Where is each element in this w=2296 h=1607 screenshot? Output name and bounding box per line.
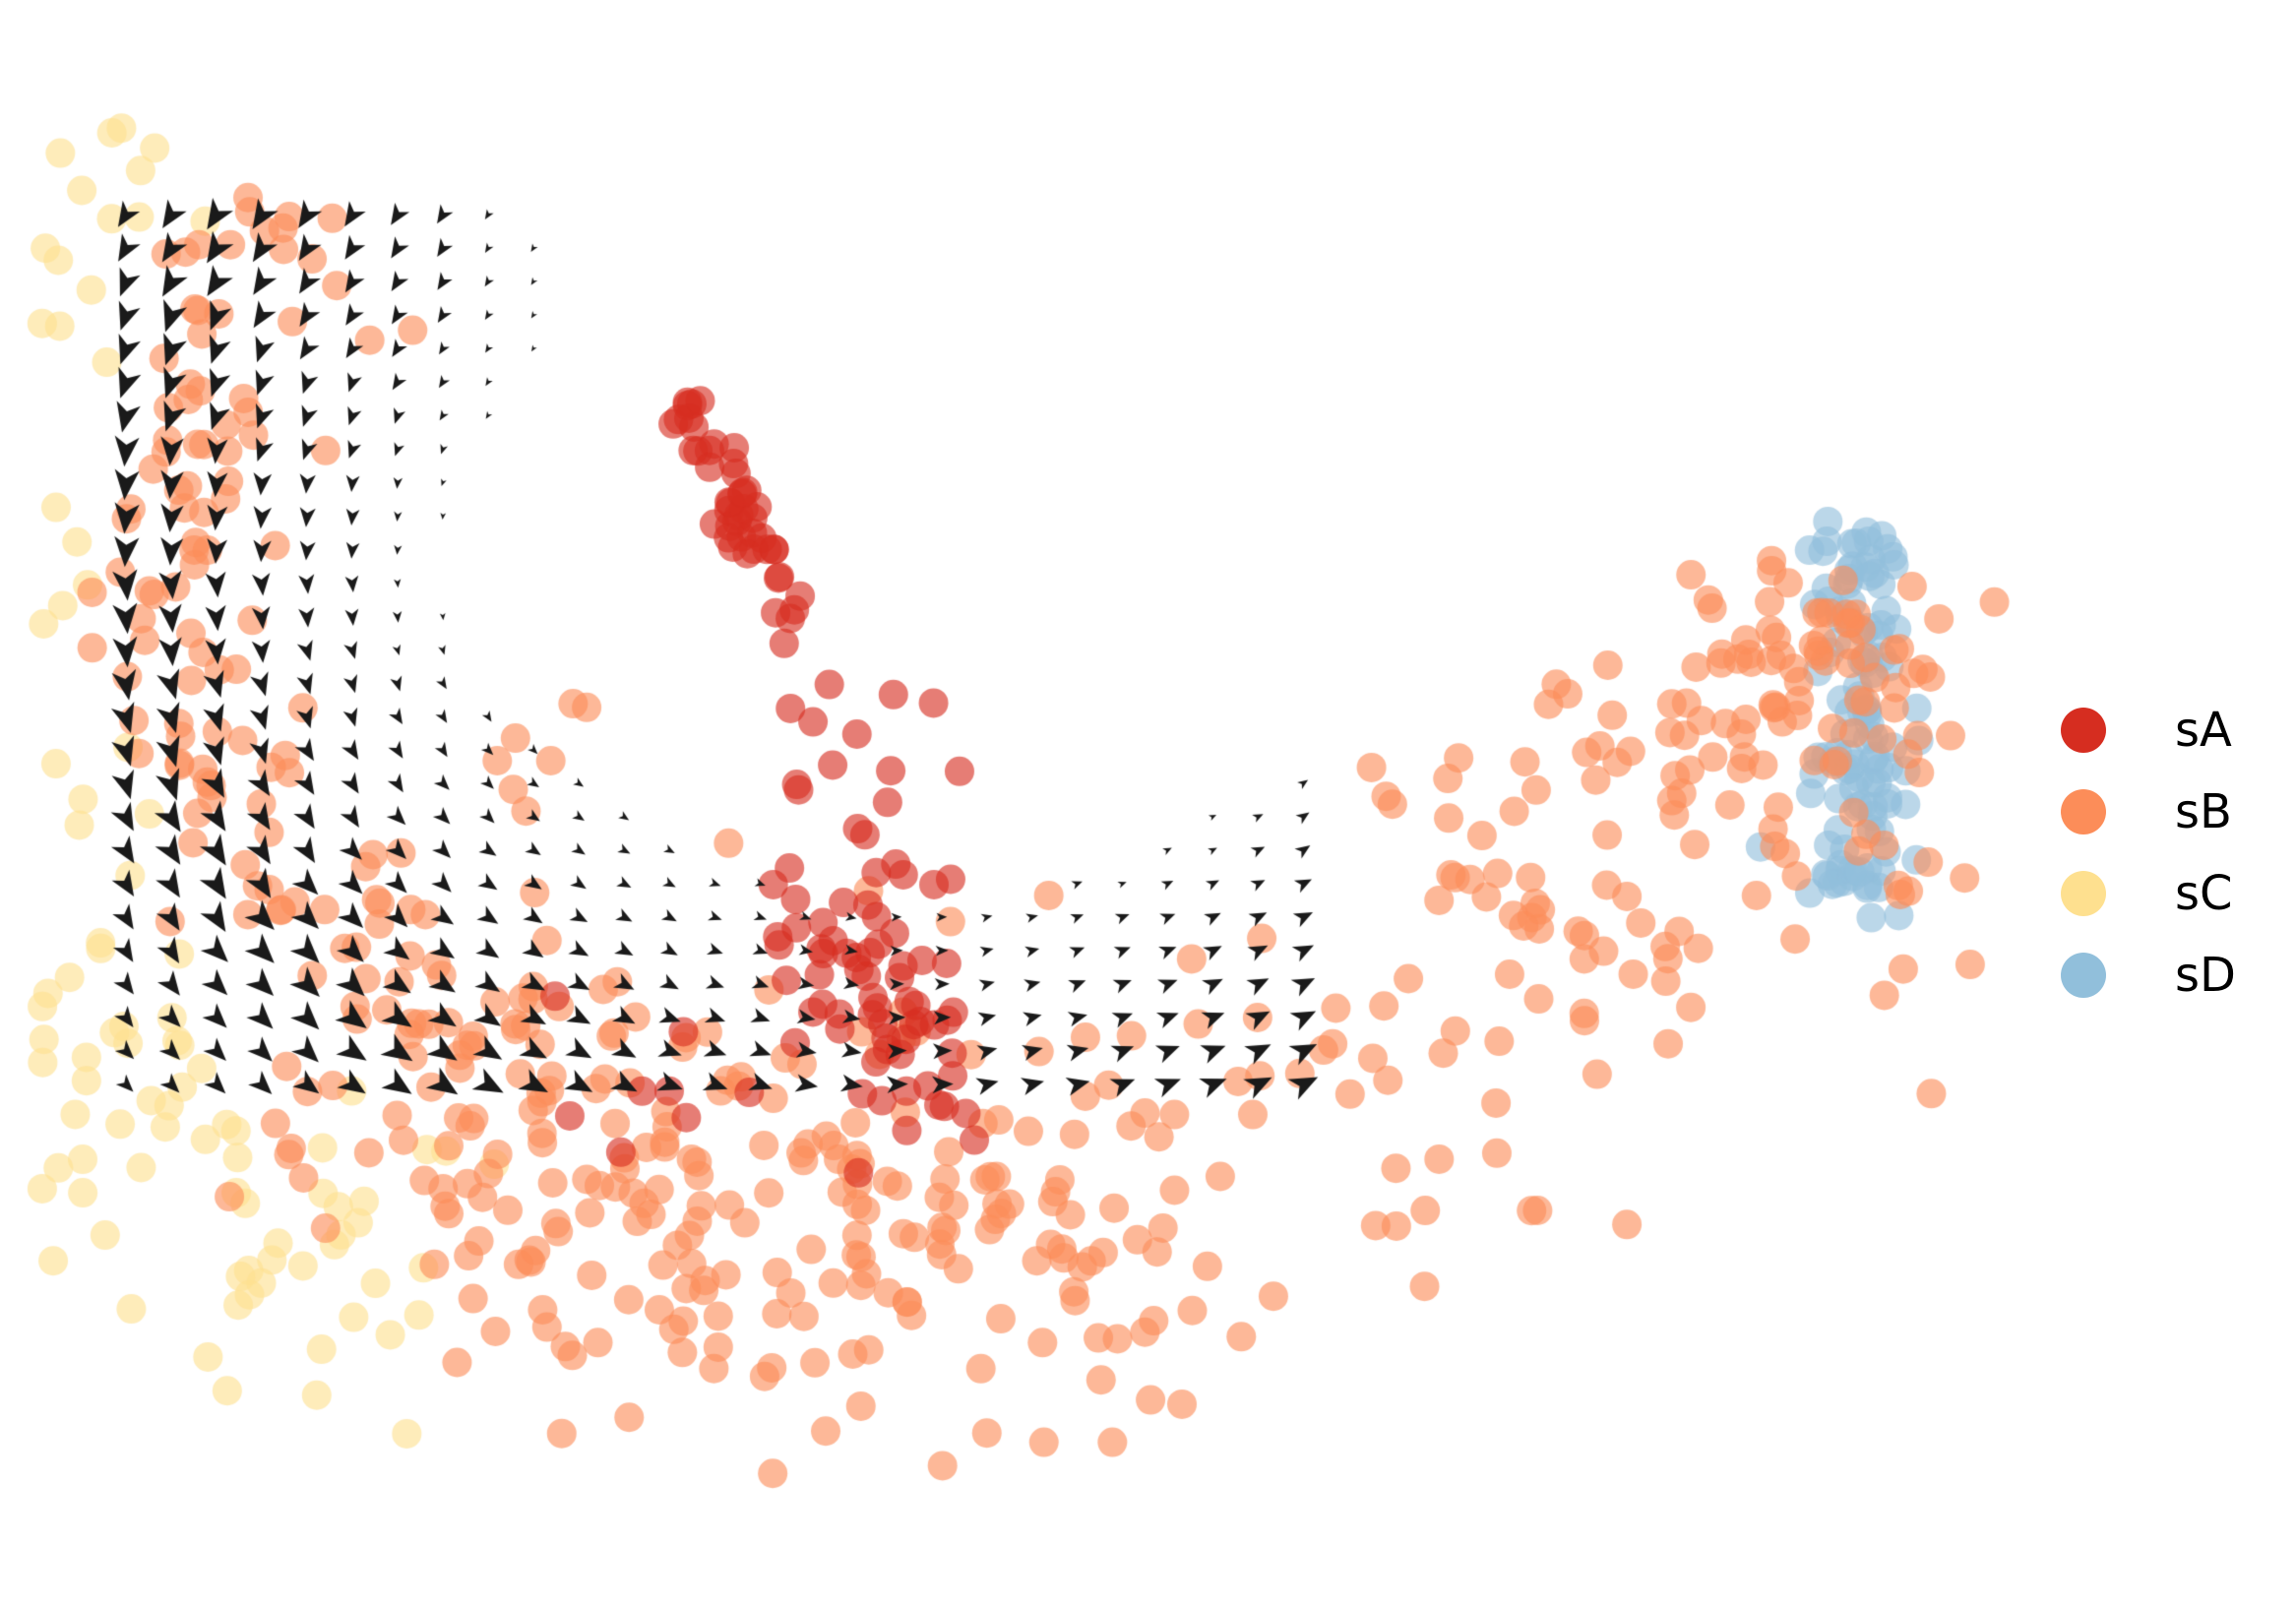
legend-label: sB [2175,788,2232,835]
legend-swatch-circle-icon [2061,789,2106,834]
legend-item-sD[interactable]: sD [2061,934,2296,1016]
legend-label: sC [2175,870,2233,917]
legend-label: sD [2175,952,2236,999]
legend-item-sA[interactable]: sA [2061,689,2296,771]
legend-item-sC[interactable]: sC [2061,852,2296,934]
legend-item-sB[interactable]: sB [2061,771,2296,852]
legend-label: sA [2175,707,2232,754]
legend: sA sB sC sD [2061,689,2296,1016]
figure-canvas-root: cellDancer sA sB sC sD [0,0,2296,1607]
legend-swatch-circle-icon [2061,871,2106,916]
legend-swatch-circle-icon [2061,708,2106,753]
legend-swatch-circle-icon [2061,953,2106,998]
scatter-velocity-plot [0,0,2296,1607]
